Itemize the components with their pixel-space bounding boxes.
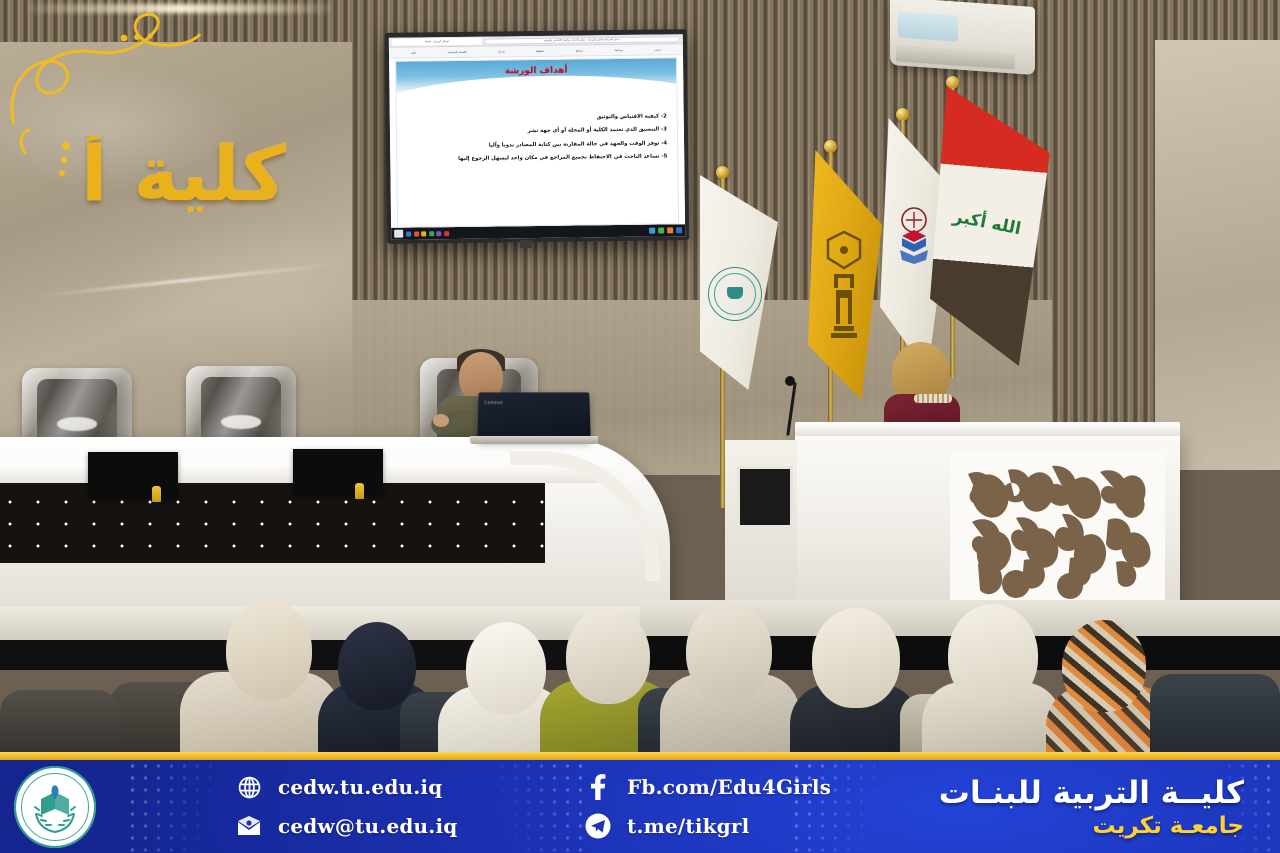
audience-head [226, 600, 312, 700]
gold-divider-strip [0, 752, 1280, 760]
dot-pattern-left [126, 760, 246, 853]
podium [795, 430, 1180, 625]
footer-contacts-left: cedw.tu.edu.iq cedw@tu.edu.iq [236, 760, 457, 853]
marble-wall-panel-right [1155, 40, 1280, 470]
slide-bullet: 3- التنسيق الذي تعتمد الكلية أو المجلة أ… [407, 127, 667, 137]
globe-icon [236, 774, 262, 800]
slide-bullet: 2- كيفية الاقتباس والتوثيق [407, 113, 667, 123]
tray-icon[interactable] [658, 227, 664, 233]
taskbar-app-icon[interactable] [444, 231, 449, 236]
tray-icon[interactable] [676, 227, 682, 233]
audience-seat [0, 690, 120, 752]
browser-address-bar[interactable]: عرض الشرائح الخاص بالورشة - تنظيم المصاد… [484, 36, 680, 44]
audience-head [812, 608, 900, 708]
taskbar-app-icon[interactable] [406, 231, 411, 236]
telegram-url: t.me/tikgrl [627, 814, 749, 838]
contact-row-website[interactable]: cedw.tu.edu.iq [236, 774, 457, 800]
laptop: Lenovo [477, 392, 590, 440]
audience-head [466, 622, 546, 714]
audience-head [1062, 620, 1146, 712]
ribbon-item[interactable]: الصفحة الرئيسية [448, 50, 467, 54]
dot-pattern-center [470, 760, 590, 853]
footer-contacts-right: Fb.com/Edu4Girls t.me/tikgrl [585, 760, 831, 853]
taskbar-app-icon[interactable] [429, 231, 434, 236]
screenshot-root: كلية أ اهداف الورشة - Word عرض الشرائح ا… [0, 0, 1280, 853]
audience-head [686, 602, 772, 700]
university-name-arabic: جامعـة تكريت [1092, 813, 1244, 839]
audience-seat [1150, 674, 1280, 752]
tray-icon[interactable] [649, 228, 655, 234]
audience-head [948, 604, 1038, 706]
contact-row-email[interactable]: cedw@tu.edu.iq [236, 813, 457, 839]
slide-bullet: 5- تساعد الباحث في الاحتفاظ بجميع المراج… [407, 154, 667, 164]
ministry-emblem-icon [892, 206, 936, 266]
wall-display: اهداف الورشة - Word عرض الشرائح الخاص با… [385, 29, 690, 244]
facebook-icon [585, 774, 611, 800]
arabesque-fretwork-panel [950, 452, 1165, 602]
college-flag-seal [708, 267, 762, 321]
nameplate-stand [152, 486, 161, 502]
college-seal-logo [14, 766, 96, 848]
ribbon-item[interactable]: مراجع [576, 48, 583, 52]
nameplate [88, 452, 178, 498]
event-photograph: كلية أ اهداف الورشة - Word عرض الشرائح ا… [0, 0, 1280, 752]
browser-tab[interactable]: اهداف الورشة - Word [392, 38, 482, 46]
taskbar-icons [406, 228, 646, 236]
audience-head [338, 622, 416, 710]
display-screen: اهداف الورشة - Word عرض الشرائح الخاص با… [389, 34, 685, 240]
seal-inner-icon [14, 766, 96, 848]
start-button-icon[interactable] [394, 230, 403, 238]
nameplate-stand [355, 483, 364, 499]
ribbon-item[interactable]: ملف [411, 50, 416, 54]
slide-area: أهداف الورشة 1- ترتيب وتنظيم المصادر آلي… [389, 55, 685, 228]
college-name-arabic: كليــة التربية للبنـات [939, 775, 1244, 811]
nameplate [293, 449, 383, 495]
taskbar-app-icon[interactable] [414, 231, 419, 236]
ribbon-item[interactable]: عرض [655, 47, 662, 51]
tray-icon[interactable] [667, 227, 673, 233]
air-conditioner-icon [890, 0, 1035, 75]
stage-ledge-left [0, 606, 660, 640]
iraq-flag-takbir: الله أكبر [943, 206, 1031, 241]
presentation-slide: أهداف الورشة 1- ترتيب وتنظيم المصادر آلي… [395, 57, 679, 227]
taskbar-app-icon[interactable] [421, 231, 426, 236]
website-url: cedw.tu.edu.iq [278, 775, 442, 799]
university-emblem-icon [820, 228, 868, 346]
wall-college-sign: كلية أ [0, 136, 286, 212]
taskbar-app-icon[interactable] [436, 231, 441, 236]
ribbon-item[interactable]: إدراج [498, 49, 504, 53]
envelope-icon [236, 813, 262, 839]
ribbon-item[interactable]: تخطيط [536, 49, 544, 53]
telegram-icon [585, 813, 611, 839]
arabesque-pattern-icon [950, 452, 1165, 602]
laptop-base [470, 436, 598, 444]
taskbar-tray [649, 227, 682, 233]
podium-monitor [737, 466, 793, 528]
facebook-url: Fb.com/Edu4Girls [627, 775, 831, 799]
ribbon-item[interactable]: مراجعة [615, 48, 623, 52]
slide-bullet: 4- توفر الوقت والجهد في حالة المقارنة بي… [407, 140, 667, 150]
footer-banner: cedw.tu.edu.iq cedw@tu.edu.iq [0, 760, 1280, 853]
footer-institution-names: كليــة التربية للبنـات جامعـة تكريت [939, 760, 1244, 853]
display-mount [520, 240, 532, 248]
email-address: cedw@tu.edu.iq [278, 814, 457, 838]
audience-head [566, 608, 650, 704]
contact-row-facebook[interactable]: Fb.com/Edu4Girls [585, 774, 831, 800]
head-table-dotted-panel [0, 483, 545, 563]
contact-row-telegram[interactable]: t.me/tikgrl [585, 813, 831, 839]
laptop-brand-label: Lenovo [484, 400, 503, 406]
